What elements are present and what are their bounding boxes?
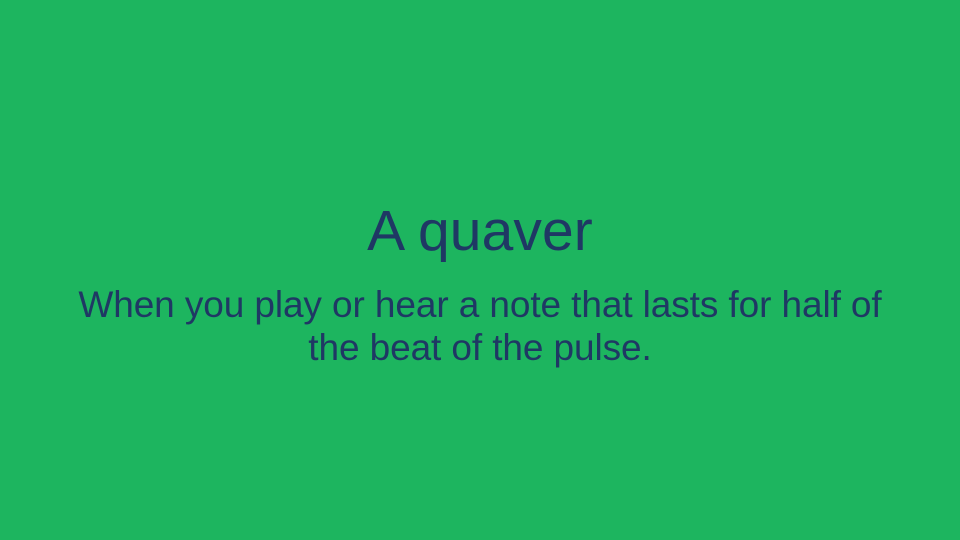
- slide: A quaver When you play or hear a note th…: [0, 0, 960, 540]
- slide-subtitle: When you play or hear a note that lasts …: [60, 283, 900, 369]
- slide-title: A quaver: [0, 198, 960, 264]
- slide-content-area: A quaver When you play or hear a note th…: [0, 0, 960, 540]
